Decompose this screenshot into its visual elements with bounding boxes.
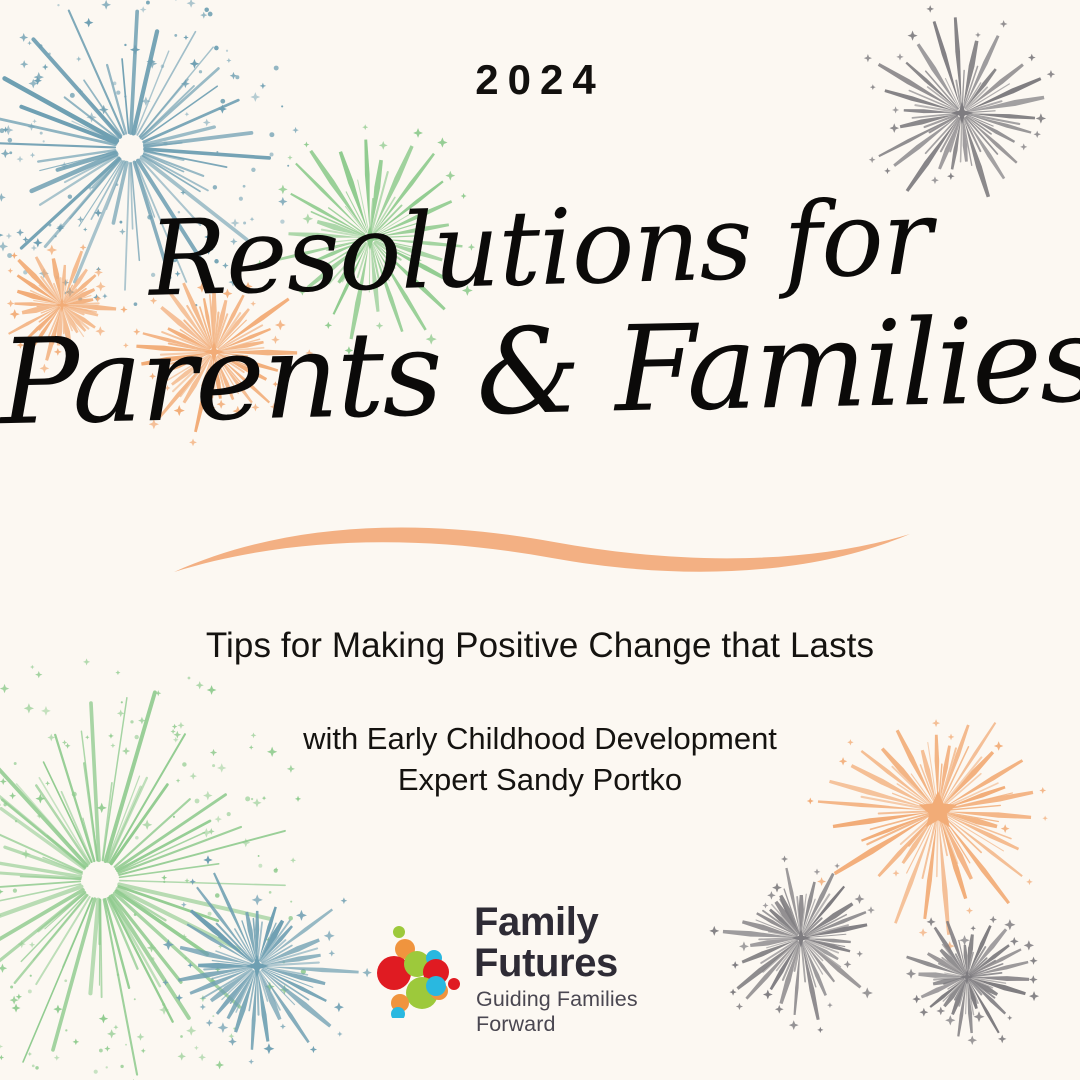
presenter-credit: with Early Childhood Development Expert … [0,718,1080,800]
family-futures-logo: Family Futures Guiding Families Forward [372,920,712,1020]
title-line-2: Parents & Families [0,301,1080,442]
wave-divider [174,508,910,580]
logo-tagline: Guiding Families Forward [476,987,712,1039]
logo-dots-icon [372,922,468,1018]
firework-gray-bottom-mid [709,855,875,1033]
year-label: 2024 [0,56,1080,104]
firework-gray-bottom-right [906,916,1039,1045]
poster-canvas: 2024 Resolutions for Parents & Families … [0,0,1080,1080]
presenter-line-2: Expert Sandy Portko [0,759,1080,800]
subtitle: Tips for Making Positive Change that Las… [0,626,1080,666]
logo-text-block: Family Futures Guiding Families Forward [474,902,712,1038]
page-title: Resolutions for Parents & Families [0,196,1080,430]
presenter-line-1: with Early Childhood Development [0,718,1080,759]
logo-name: Family Futures [474,902,712,984]
firework-blue-bottom-left [162,855,372,1064]
